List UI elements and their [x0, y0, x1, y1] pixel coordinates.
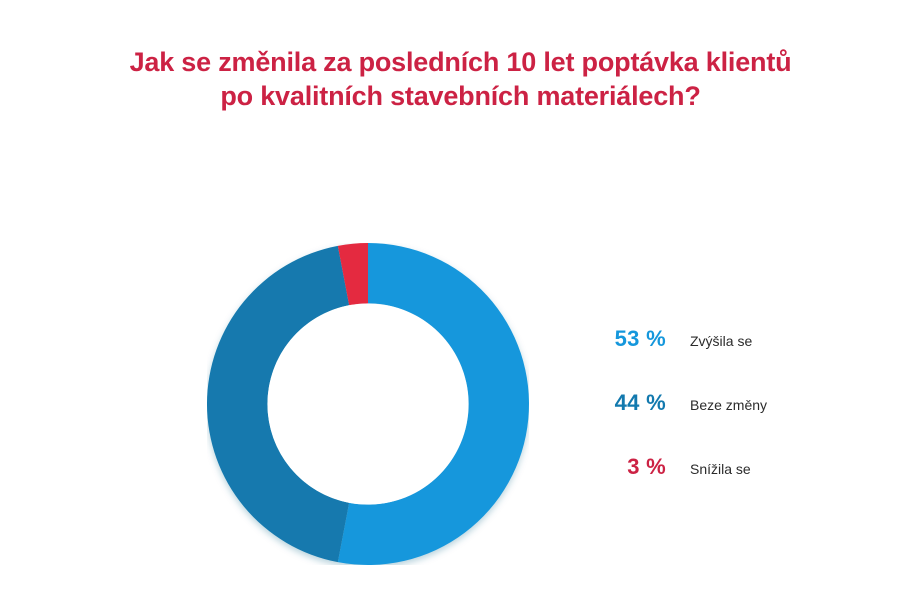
chart-legend: 53 % Zvýšila se 44 % Beze změny 3 % Sníž…: [596, 326, 896, 518]
legend-label-beze-zmeny: Beze změny: [690, 397, 767, 413]
title-line-2: po kvalitních stavebních materiálech?: [0, 79, 921, 113]
page-title: Jak se změnila za posledních 10 let popt…: [0, 45, 921, 113]
legend-label-zvysila-se: Zvýšila se: [690, 333, 752, 349]
legend-item-beze-zmeny[interactable]: 44 % Beze změny: [596, 390, 896, 454]
donut-chart: [207, 243, 529, 565]
legend-item-zvysila-se[interactable]: 53 % Zvýšila se: [596, 326, 896, 390]
legend-value-beze-zmeny: 44 %: [596, 390, 666, 416]
legend-item-snizila-se[interactable]: 3 % Snížila se: [596, 454, 896, 518]
legend-label-snizila-se: Snížila se: [690, 461, 751, 477]
donut-chart-svg: [207, 243, 529, 565]
title-line-1: Jak se změnila za posledních 10 let popt…: [0, 45, 921, 79]
legend-value-zvysila-se: 53 %: [596, 326, 666, 352]
legend-value-snizila-se: 3 %: [596, 454, 666, 480]
donut-hole: [268, 304, 469, 505]
